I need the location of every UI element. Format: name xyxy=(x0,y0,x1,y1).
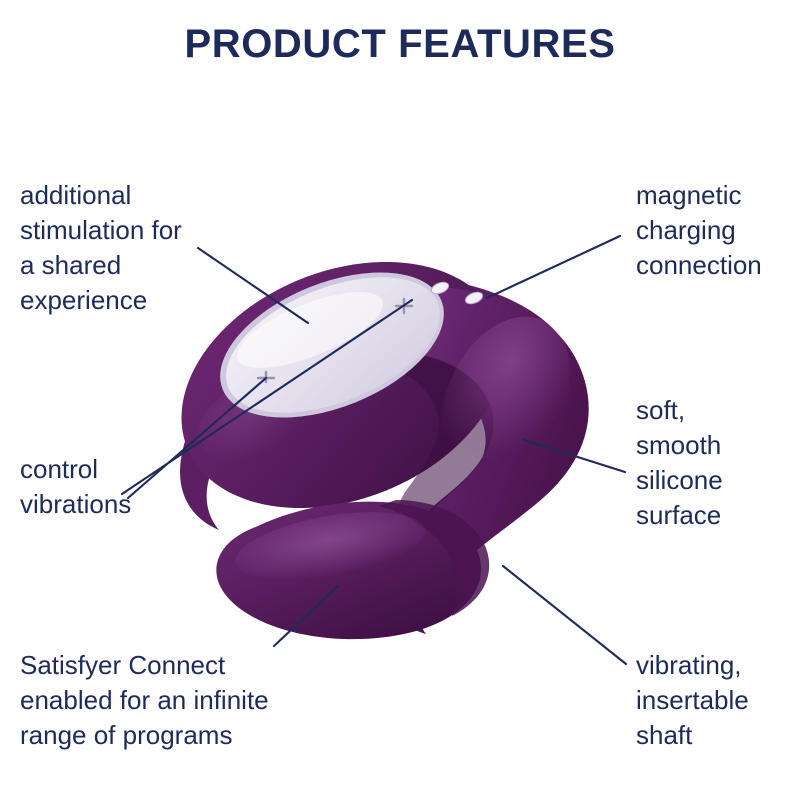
callout-vibrating-shaft: vibrating, insertable shaft xyxy=(636,648,800,753)
leader-line-vibrating xyxy=(503,566,626,664)
callout-additional-stimulation: additional stimulation for a shared expe… xyxy=(20,178,260,318)
leader-line-magnetic xyxy=(487,236,620,298)
callout-control-vibrations: control vibrations xyxy=(20,452,240,522)
callout-magnetic-charging: magnetic charging connection xyxy=(636,178,800,283)
callout-soft-silicone: soft, smooth silicone surface xyxy=(636,393,800,533)
callout-satisfyer-connect: Satisfyer Connect enabled for an infinit… xyxy=(20,648,360,753)
product-features-infographic: PRODUCT FEATURES xyxy=(0,0,800,800)
